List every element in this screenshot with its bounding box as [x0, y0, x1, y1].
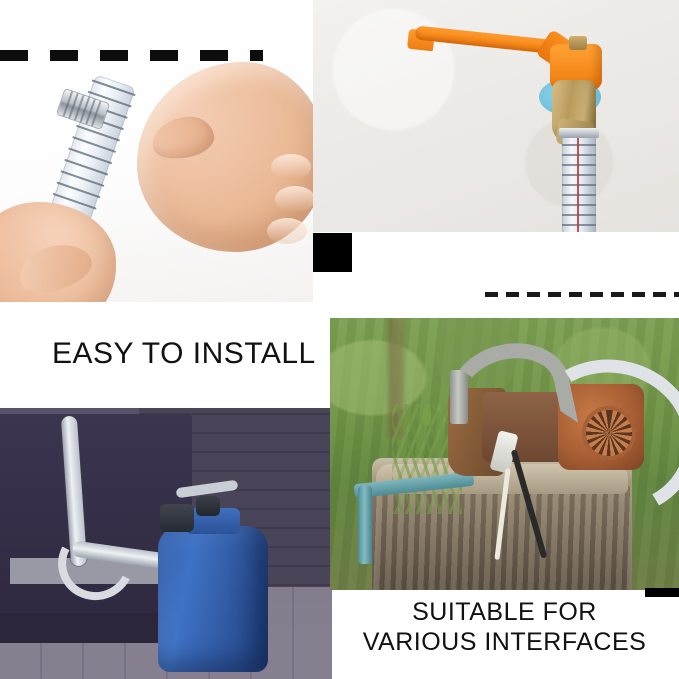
dash-segment — [653, 292, 666, 297]
dash-segment — [150, 50, 178, 61]
panel-water-pump-on-stump — [330, 318, 679, 590]
dashed-rule-top-left — [0, 50, 263, 61]
black-bar-accent — [645, 588, 679, 597]
blue-standpipe — [358, 486, 372, 564]
panel-hands-installing-hose-clamp — [0, 0, 313, 302]
hose-red-stripe — [577, 128, 579, 232]
caption-line-1: SUITABLE FOR — [330, 598, 679, 628]
panel-blue-gas-cylinder — [0, 408, 332, 679]
dash-segment — [590, 292, 603, 297]
dash-segment — [527, 292, 540, 297]
dash-segment — [50, 50, 78, 61]
dash-segment — [100, 50, 128, 61]
black-square-accent — [313, 233, 352, 272]
clear-reinforced-hose — [562, 128, 596, 232]
panel-orange-ball-valve — [313, 0, 679, 232]
dash-segment — [569, 292, 582, 297]
dash-segment — [250, 50, 263, 61]
dash-segment — [548, 292, 561, 297]
blue-gas-cylinder — [158, 526, 268, 672]
dash-segment — [0, 50, 28, 61]
dashed-rule-mid-right — [485, 292, 679, 297]
gas-regulator — [160, 504, 194, 532]
collage-canvas: EASY TO INSTALL SUITABLE FOR VARIOUS INT… — [0, 0, 679, 679]
stem-nut — [569, 36, 587, 50]
gas-valve-knob — [196, 496, 220, 516]
caption-easy-to-install: EASY TO INSTALL — [52, 336, 316, 371]
caption-suitable-for-various-interfaces: SUITABLE FOR VARIOUS INTERFACES — [330, 598, 679, 657]
dash-segment — [674, 292, 679, 297]
dash-segment — [200, 50, 228, 61]
hose-clamp — [559, 128, 599, 138]
dash-segment — [485, 292, 498, 297]
dash-segment — [611, 292, 624, 297]
dash-segment — [632, 292, 645, 297]
caption-line-2: VARIOUS INTERFACES — [330, 628, 679, 658]
dash-segment — [506, 292, 519, 297]
